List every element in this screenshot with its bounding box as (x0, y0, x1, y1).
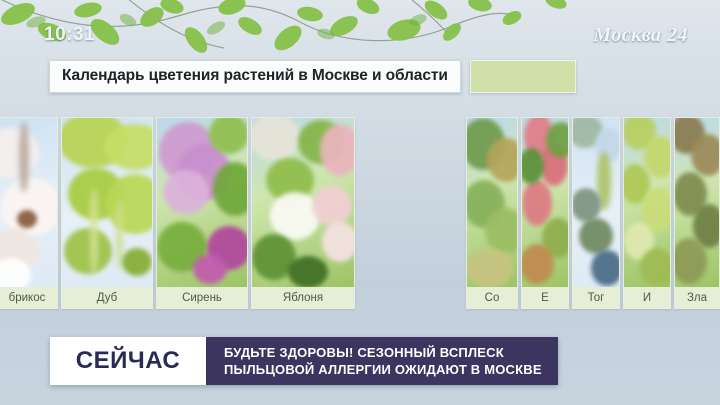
plant-label: Сирень (157, 287, 247, 308)
headline-line-1: БУДЬТЕ ЗДОРОВЫ! СЕЗОННЫЙ ВСПЛЕСК (224, 344, 542, 361)
apple-blossom-photo (252, 118, 354, 287)
oak-catkins-photo (62, 118, 152, 287)
plant-label: брикос (0, 287, 57, 308)
grasses-photo (675, 118, 719, 287)
pine-branch-photo (467, 118, 517, 287)
plant-panel-group-right: Со Е Тог (466, 117, 720, 309)
plant-label: Яблоня (252, 287, 354, 308)
ticker-headline: БУДЬТЕ ЗДОРОВЫ! СЕЗОННЫЙ ВСПЛЕСК ПЫЛЬЦОВ… (206, 337, 558, 385)
plant-panel[interactable]: Сирень (156, 117, 248, 309)
plant-label: Со (467, 287, 517, 308)
spruce-cones-photo (522, 118, 568, 287)
title-green-chip (470, 60, 576, 93)
willow-catkins-photo (624, 118, 670, 287)
clock: 10:31 (44, 24, 95, 46)
plant-panel[interactable]: брикос (0, 117, 58, 309)
plant-panel[interactable]: Тог (572, 117, 620, 309)
channel-logo: Москва 24 (593, 24, 688, 47)
plant-label: И (624, 287, 670, 308)
page-title: Календарь цветения растений в Москве и о… (62, 67, 448, 85)
plant-panel[interactable]: Со (466, 117, 518, 309)
news-ticker: СЕЙЧАС БУДЬТЕ ЗДОРОВЫ! СЕЗОННЫЙ ВСПЛЕСК … (50, 337, 558, 385)
page-title-box: Календарь цветения растений в Москве и о… (49, 60, 461, 93)
headline-line-2: ПЫЛЬЦОВОЙ АЛЛЕРГИИ ОЖИДАЮТ В МОСКВЕ (224, 361, 542, 378)
plant-label: Зла (675, 287, 719, 308)
lilac-blossom-photo (157, 118, 247, 287)
plant-panel-group-left: брикос Дуб (0, 117, 355, 309)
title-bar: Календарь цветения растений в Москве и о… (49, 60, 576, 93)
broadcast-screen: 10:31 Москва 24 Календарь цветения расте… (0, 0, 720, 405)
plant-label: Дуб (62, 287, 152, 308)
plant-label: Тог (573, 287, 619, 308)
plant-panel[interactable]: Дуб (61, 117, 153, 309)
plant-label: Е (522, 287, 568, 308)
ticker-tag: СЕЙЧАС (50, 337, 206, 385)
apricot-blossom-photo (0, 118, 57, 287)
plant-panel[interactable]: И (623, 117, 671, 309)
poplar-catkins-photo (573, 118, 619, 287)
plant-panel[interactable]: Зла (674, 117, 720, 309)
ticker-tag-label: СЕЙЧАС (76, 347, 181, 375)
plant-panel[interactable]: Яблоня (251, 117, 355, 309)
plant-panel[interactable]: Е (521, 117, 569, 309)
